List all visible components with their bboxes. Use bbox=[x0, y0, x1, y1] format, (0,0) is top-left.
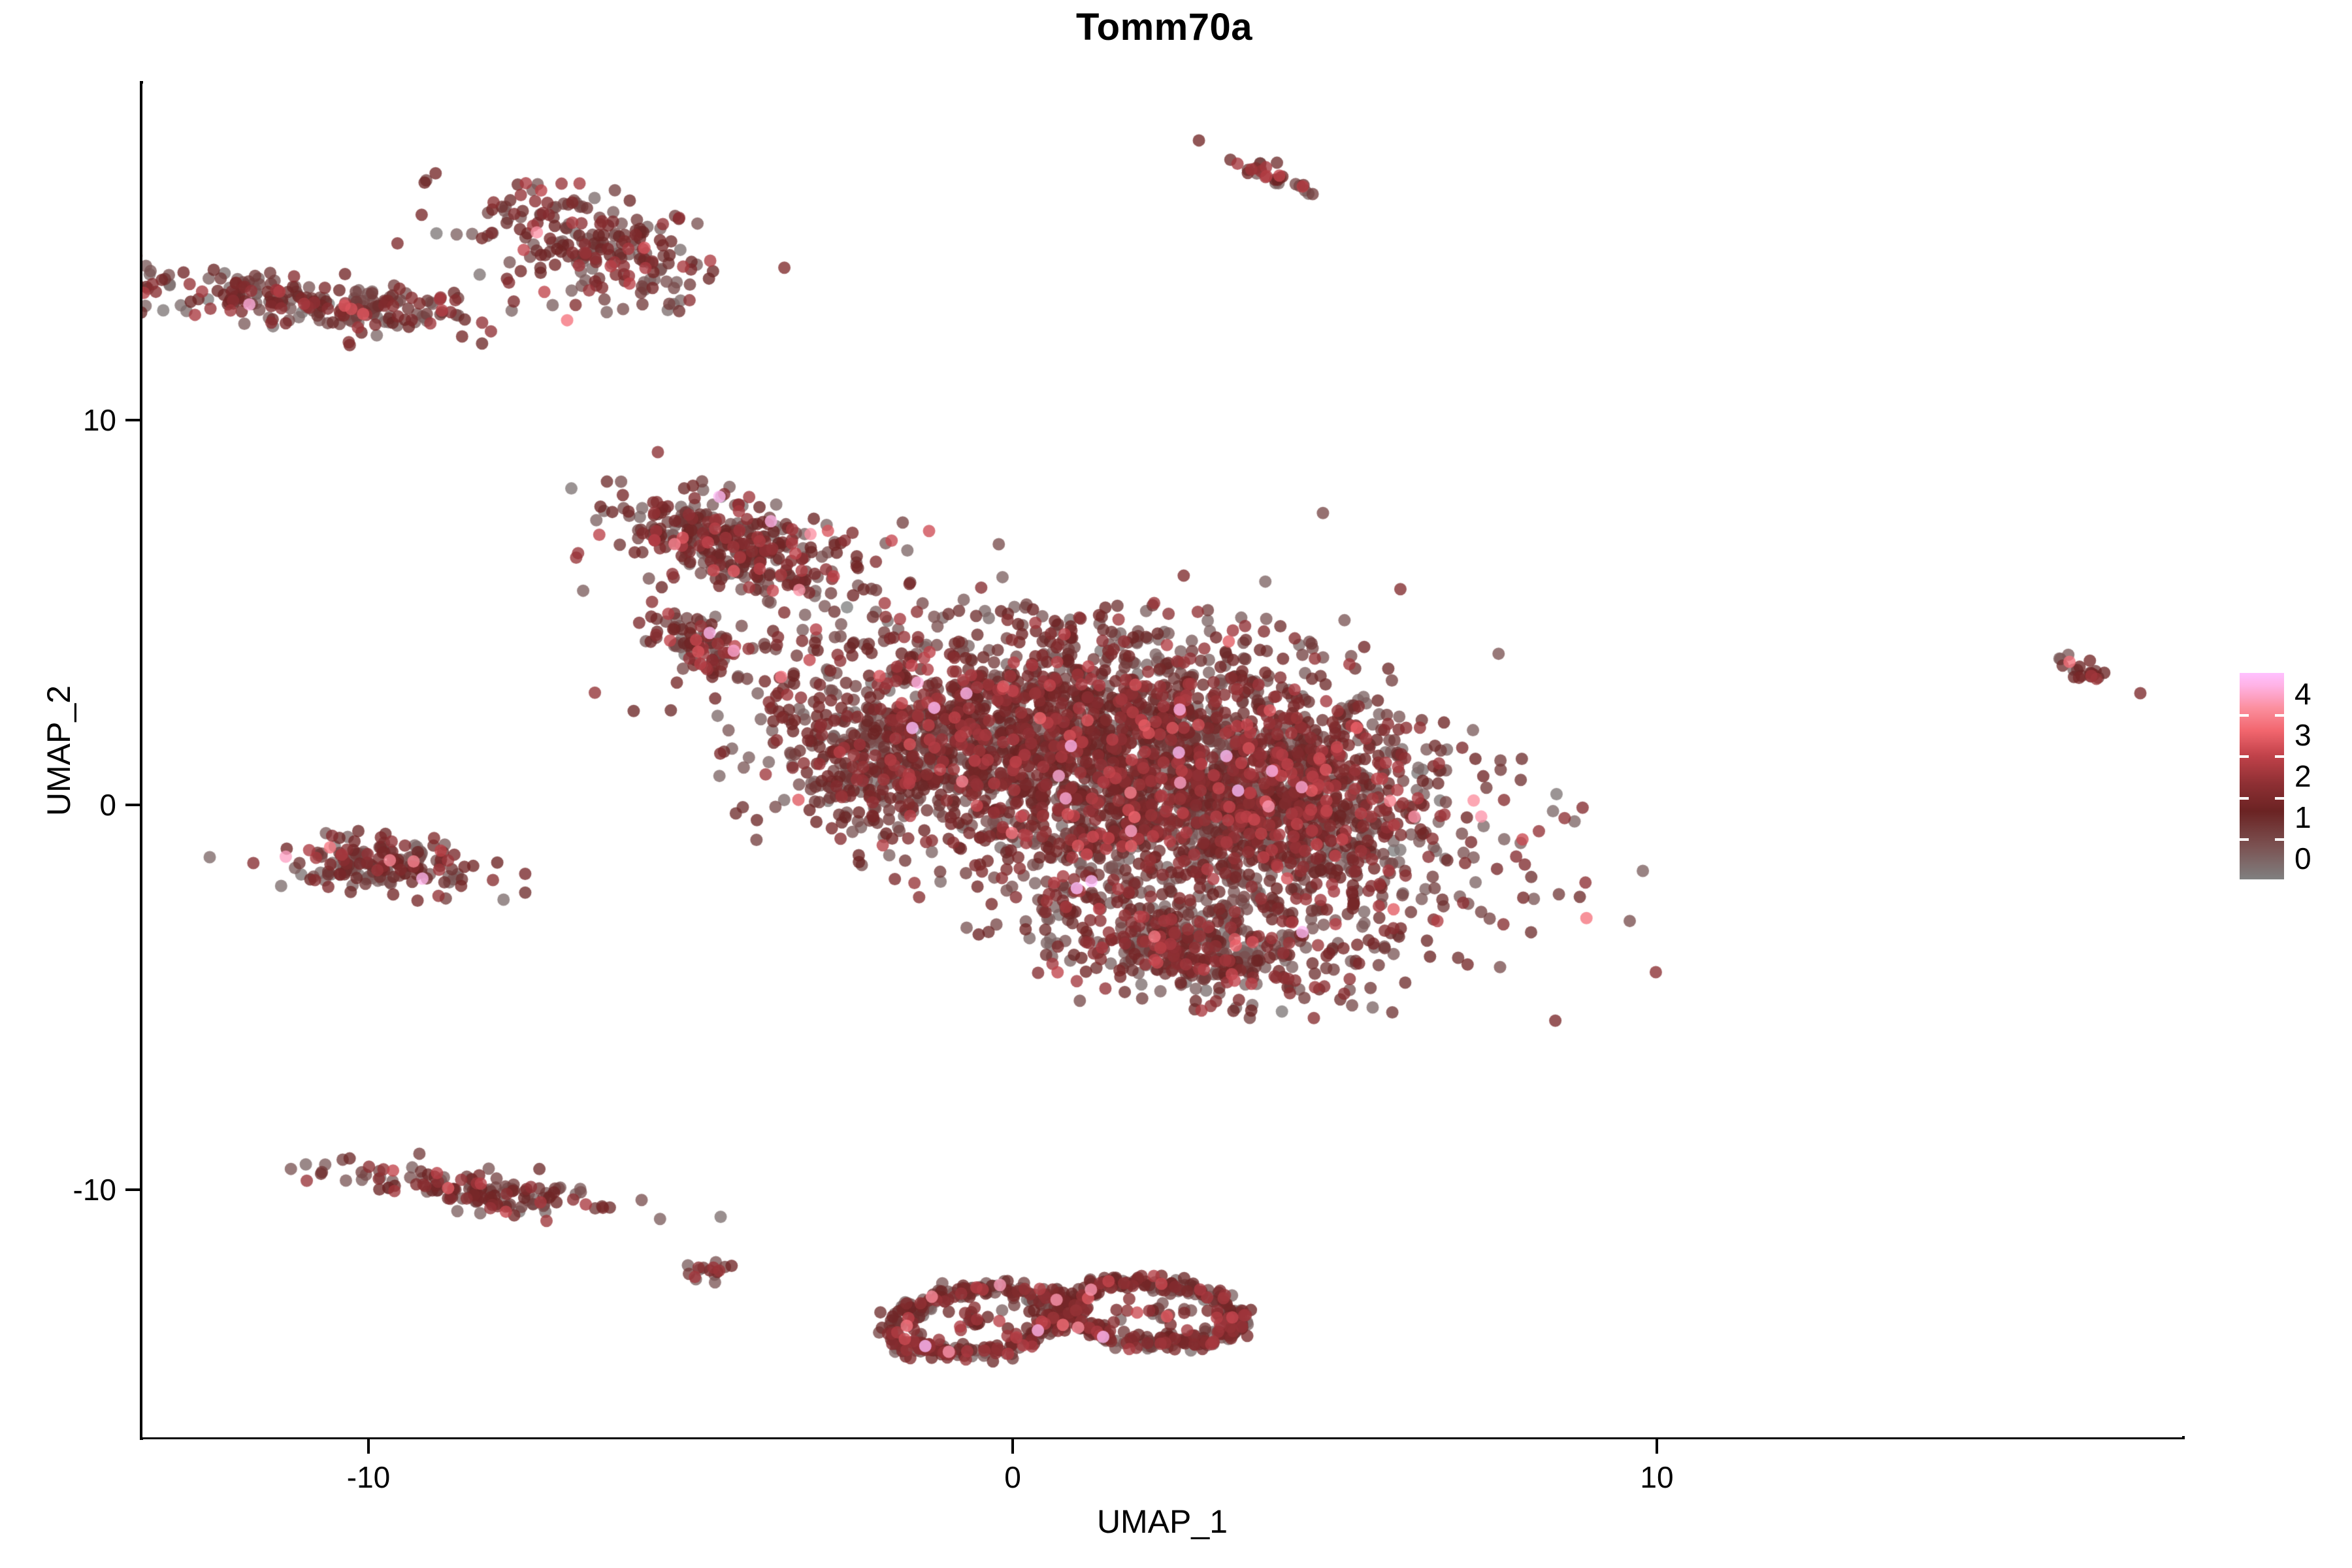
colorbar-label: 3 bbox=[2295, 717, 2311, 753]
y-tick-mark bbox=[125, 804, 140, 806]
x-tick-mark bbox=[1656, 1439, 1658, 1454]
y-tick-mark bbox=[125, 1188, 140, 1191]
scatter-canvas bbox=[142, 84, 2182, 1437]
colorbar-tick bbox=[2240, 797, 2249, 800]
colorbar-tick bbox=[2275, 838, 2284, 841]
colorbar-legend: 43210 bbox=[2234, 668, 2345, 890]
x-tick-mark bbox=[1011, 1439, 1014, 1454]
colorbar-tick bbox=[2240, 755, 2249, 758]
colorbar-tick bbox=[2240, 838, 2249, 841]
colorbar-label: 1 bbox=[2295, 800, 2311, 835]
chart-root: Tomm70a -10010 -10010 UMAP_1 UMAP_2 4321… bbox=[0, 0, 2352, 1568]
colorbar-label: 0 bbox=[2295, 841, 2311, 876]
y-axis-label: UMAP_2 bbox=[40, 522, 78, 979]
y-tick-mark bbox=[125, 419, 140, 421]
colorbar-tick bbox=[2275, 797, 2284, 800]
x-tick-label: 10 bbox=[1640, 1460, 1673, 1495]
colorbar-tick bbox=[2275, 755, 2284, 758]
colorbar-tick bbox=[2240, 714, 2249, 717]
colorbar-label: 2 bbox=[2295, 759, 2311, 794]
x-tick-mark bbox=[367, 1439, 370, 1454]
y-tick-label: -10 bbox=[0, 1172, 116, 1207]
x-tick-label: 0 bbox=[1004, 1460, 1021, 1495]
page-title: Tomm70a bbox=[0, 5, 2334, 49]
x-axis-label: UMAP_1 bbox=[142, 1503, 2182, 1541]
plot-panel bbox=[142, 84, 2182, 1437]
colorbar-tick bbox=[2275, 714, 2284, 717]
colorbar-label: 4 bbox=[2295, 676, 2311, 711]
x-tick-label: -10 bbox=[347, 1460, 390, 1495]
y-tick-label: 10 bbox=[0, 402, 116, 438]
colorbar-gradient bbox=[2240, 673, 2284, 879]
